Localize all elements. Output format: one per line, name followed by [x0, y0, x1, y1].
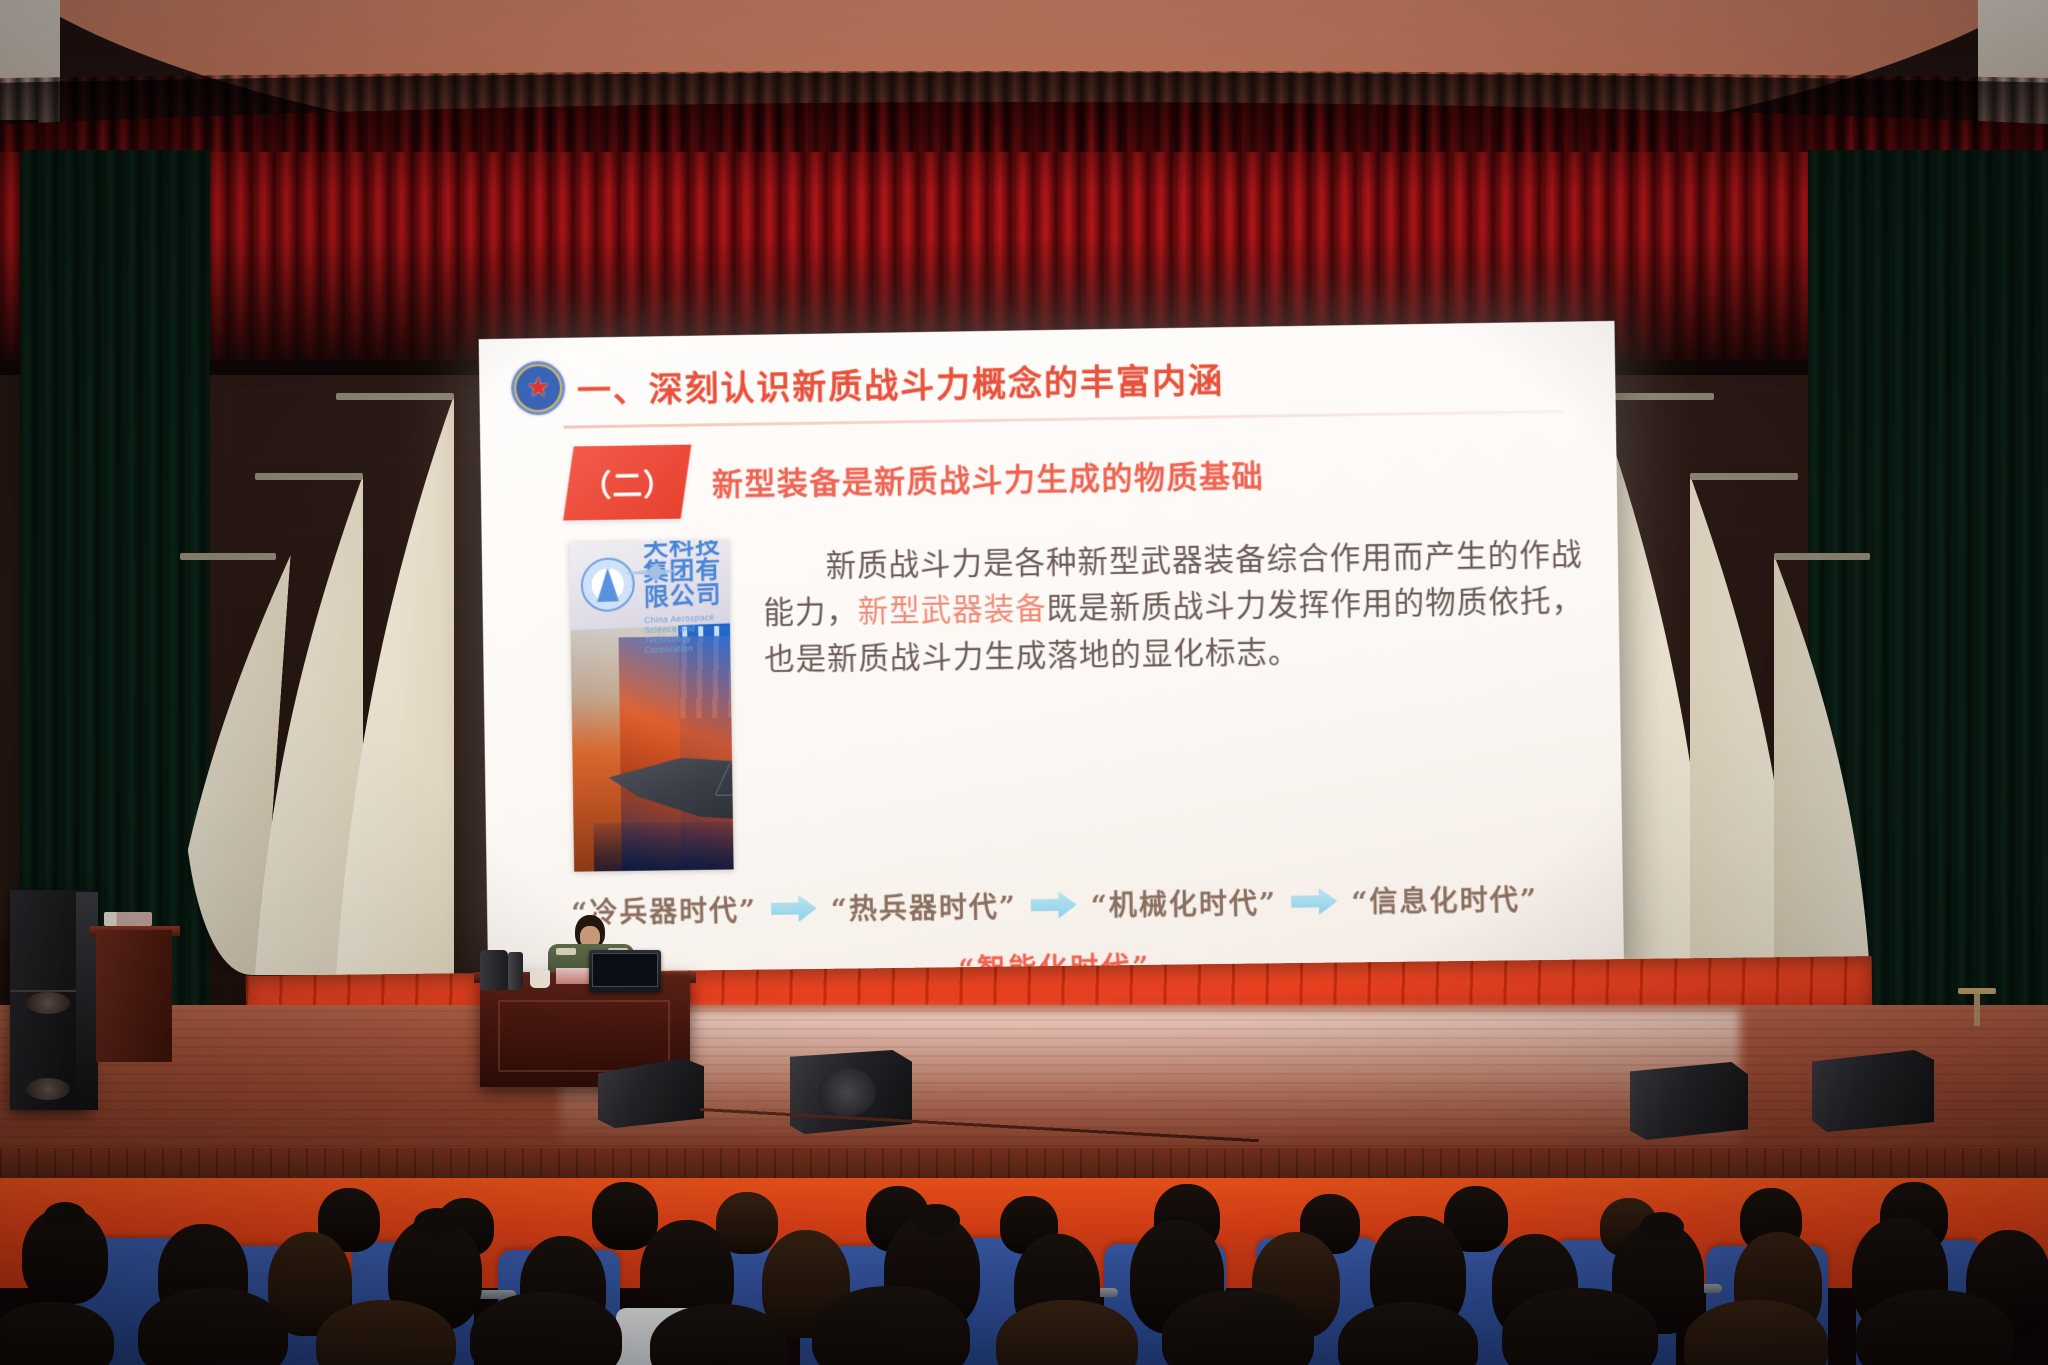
audience-hair-bun	[414, 1208, 460, 1238]
stage-monitor-2-driver	[818, 1068, 876, 1116]
section-number-label: （二）	[581, 460, 674, 505]
era-item-1: “热兵器时代”	[830, 885, 1017, 928]
casc-name-en: China Aerospace Science and Technology C…	[644, 611, 730, 655]
panel-cap-r3	[1774, 553, 1870, 560]
laptop-screen	[592, 953, 658, 987]
audience-head	[592, 1182, 658, 1250]
epaulette-left	[556, 948, 576, 955]
arrow-right-icon-3	[1291, 888, 1337, 916]
speaker-tower-side	[76, 892, 98, 1110]
slide-title: 一、深刻认识新质战斗力概念的丰富内涵	[577, 353, 1225, 412]
arrow-right-icon-1	[771, 895, 817, 923]
stage-monitor-4	[1812, 1050, 1934, 1132]
audience-hair-bun	[1640, 1212, 1684, 1242]
slide-body: 中国航天科技集团有限公司 China Aerospace Science and…	[569, 527, 1600, 872]
era-item-2: “机械化时代”	[1090, 882, 1277, 925]
curtain-shadow	[0, 62, 2048, 192]
panel-cap-l3	[336, 393, 454, 400]
slide-photo: 中国航天科技集团有限公司 China Aerospace Science and…	[569, 540, 733, 872]
panel-cap-l1	[180, 553, 276, 560]
desk-front-panel	[498, 1000, 670, 1072]
paragraph-highlight: 新型武器装备	[857, 592, 1046, 630]
projection-screen: 一、深刻认识新质战斗力概念的丰富内涵 （二） 新型装备是新质战斗力生成的物质基础	[479, 321, 1624, 978]
podium-items	[104, 912, 152, 926]
era-item-3: “信息化时代”	[1351, 878, 1538, 921]
side-stool-leg	[1974, 994, 1980, 1026]
slide-paragraph: 新质战斗力是各种新型武器装备综合作用而产生的作战能力，新型武器装备既是新质战斗力…	[762, 527, 1600, 869]
audience-hair-bun	[44, 1202, 86, 1230]
stage-monitor-3	[1630, 1062, 1748, 1140]
section-heading-row: （二） 新型装备是新质战斗力生成的物质基础	[568, 430, 1595, 520]
arrow-right-icon-2	[1031, 891, 1077, 919]
kettle-icon	[480, 950, 508, 990]
cup-icon	[530, 970, 550, 988]
presentation-slide: 一、深刻认识新质战斗力概念的丰富内涵 （二） 新型装备是新质战斗力生成的物质基础	[479, 321, 1624, 978]
auditorium-scene: 一、深刻认识新质战斗力概念的丰富内涵 （二） 新型装备是新质战斗力生成的物质基础	[0, 0, 2048, 1365]
casc-logo-icon	[581, 557, 636, 613]
audience-hair-bun	[912, 1204, 960, 1236]
audience-area	[0, 1180, 2048, 1365]
speaker-tower-driver-1	[26, 992, 70, 1014]
speaker-tower-driver-2	[26, 1078, 70, 1100]
podium	[96, 930, 172, 1062]
emblem-ring	[514, 364, 563, 413]
pla-emblem-icon	[511, 361, 566, 416]
thermos-icon	[508, 952, 523, 990]
panel-cap-r2	[1690, 473, 1798, 480]
section-heading-text: 新型装备是新质战斗力生成的物质基础	[712, 450, 1265, 504]
era-progression: “冷兵器时代” “热兵器时代” “机械化时代” “信息化时代”	[509, 877, 1601, 932]
casc-banner: 中国航天科技集团有限公司 China Aerospace Science and…	[569, 540, 729, 630]
panel-cap-l2	[255, 473, 363, 480]
stage-lip-grain	[0, 1148, 2048, 1182]
side-stool	[1958, 988, 1996, 1026]
section-number-badge: （二）	[563, 445, 691, 521]
jet-display-base	[593, 819, 733, 871]
